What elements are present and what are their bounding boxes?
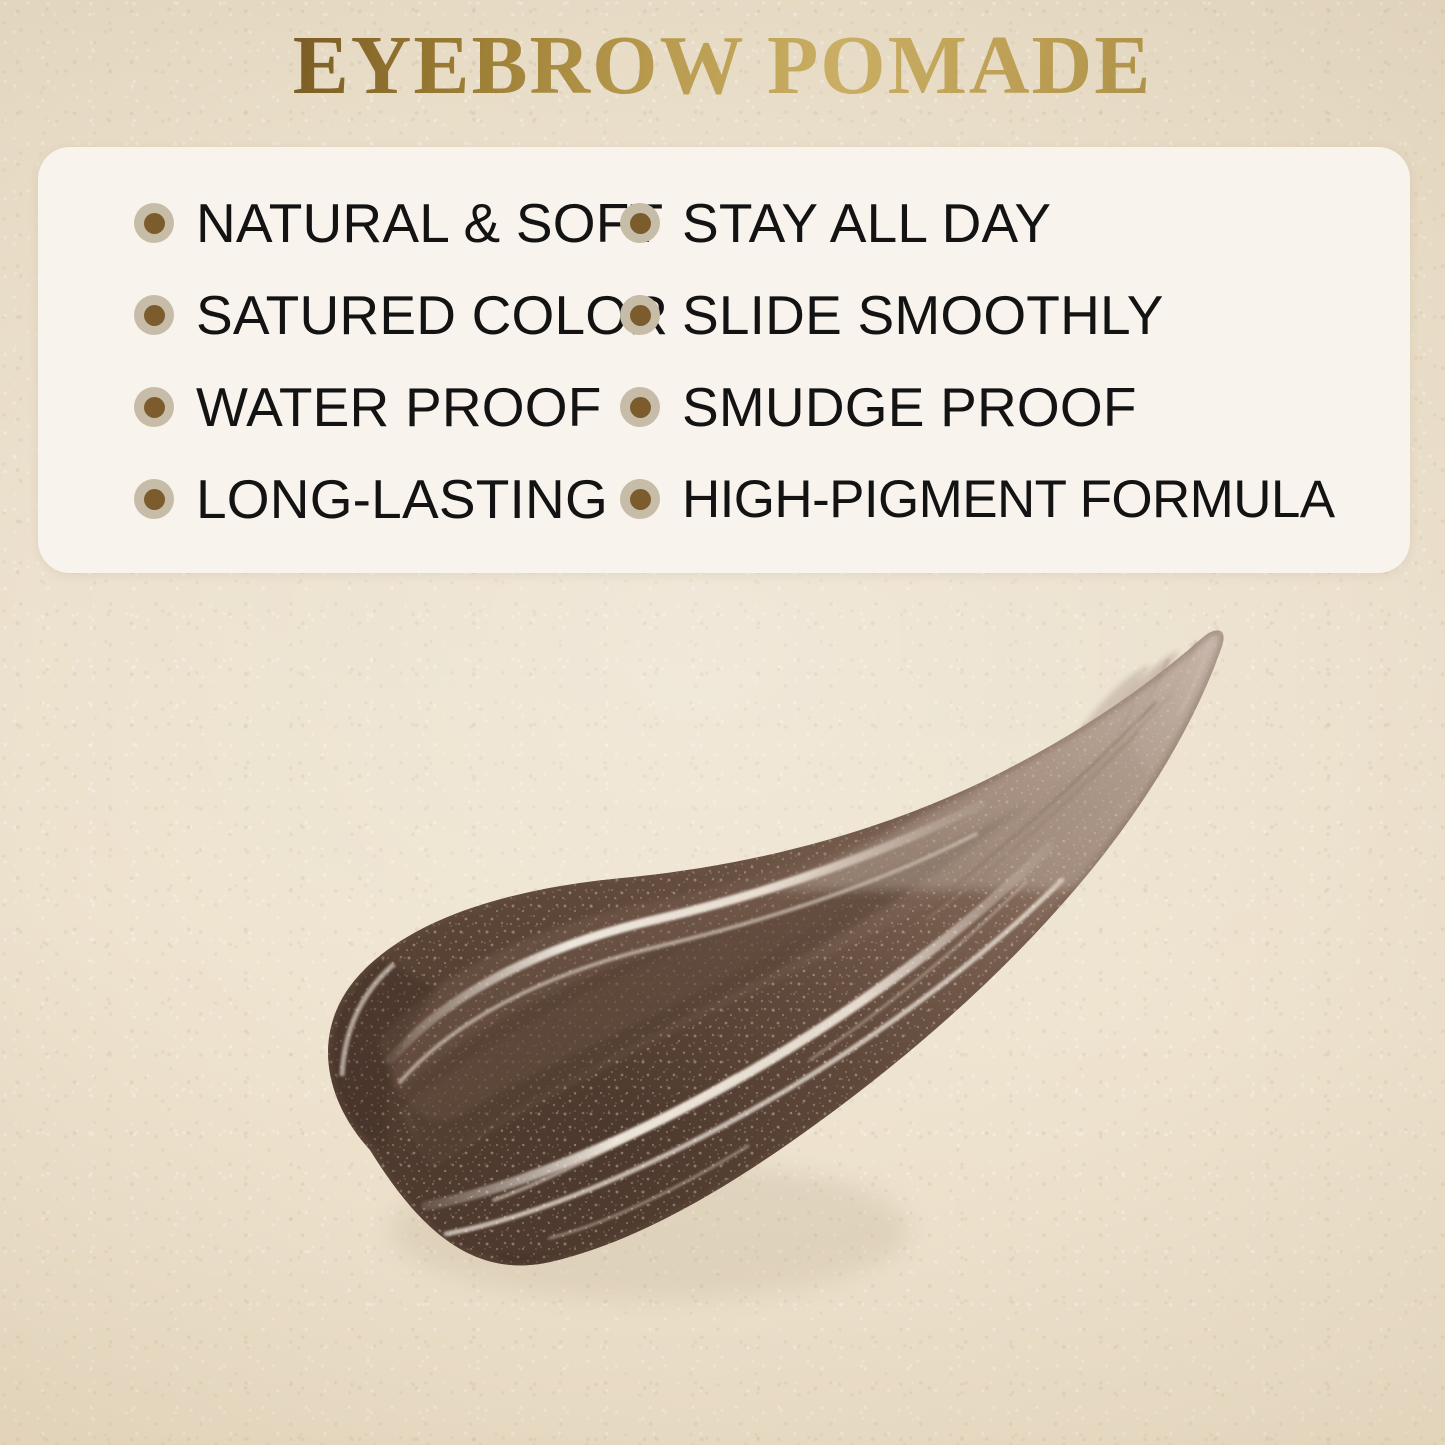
bullet-dot-icon (134, 295, 174, 335)
feature-label: STAY ALL DAY (682, 196, 1051, 251)
feature-item-water-proof: WATER PROOF (38, 361, 608, 453)
feature-item-stay-all-day: STAY ALL DAY (608, 177, 1410, 269)
feature-card: NATURAL & SOFT STAY ALL DAY SATURED COLO… (38, 147, 1410, 573)
feature-label: NATURAL & SOFT (196, 196, 663, 251)
feature-label: SLIDE SMOOTHLY (682, 288, 1164, 343)
page-title: EYEBROW POMADE (0, 22, 1445, 110)
feature-label: HIGH-PIGMENT FORMULA (682, 473, 1335, 526)
product-feature-image: EYEBROW POMADE NATURAL & SOFT STAY ALL D… (0, 0, 1445, 1445)
feature-item-high-pigment-formula: HIGH-PIGMENT FORMULA (608, 453, 1410, 545)
bullet-dot-icon (134, 479, 174, 519)
bullet-dot-icon (620, 295, 660, 335)
pomade-swatch-image (250, 590, 1260, 1410)
feature-grid: NATURAL & SOFT STAY ALL DAY SATURED COLO… (38, 147, 1410, 573)
bullet-dot-icon (134, 203, 174, 243)
feature-item-long-lasting: LONG-LASTING (38, 453, 608, 545)
bullet-dot-icon (134, 387, 174, 427)
bullet-dot-icon (620, 479, 660, 519)
feature-item-smudge-proof: SMUDGE PROOF (608, 361, 1410, 453)
feature-label: WATER PROOF (196, 380, 602, 435)
feature-item-slide-smoothly: SLIDE SMOOTHLY (608, 269, 1410, 361)
bullet-dot-icon (620, 387, 660, 427)
feature-label: SMUDGE PROOF (682, 380, 1137, 435)
feature-label: LONG-LASTING (196, 472, 608, 527)
feature-item-satured-color: SATURED COLOR (38, 269, 608, 361)
bullet-dot-icon (620, 203, 660, 243)
feature-item-natural-soft: NATURAL & SOFT (38, 177, 608, 269)
feature-label: SATURED COLOR (196, 288, 668, 343)
